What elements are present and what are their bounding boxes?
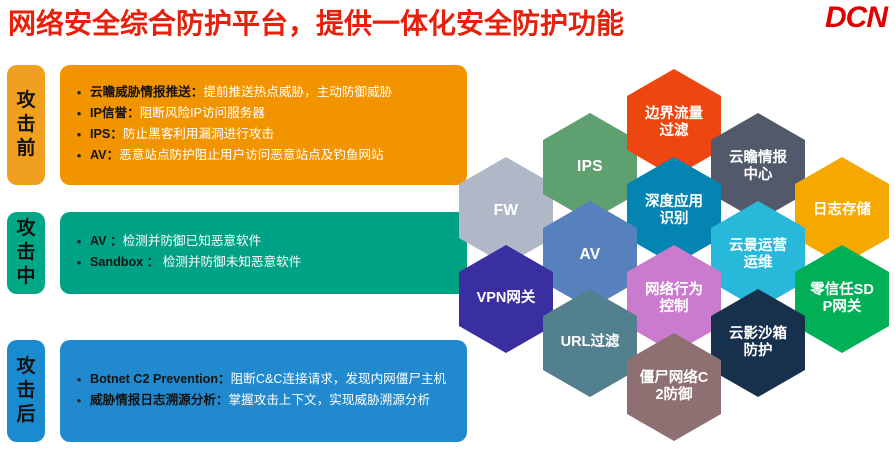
hexagon-label: FW	[482, 202, 531, 220]
list-item: • AV ：检测并防御已知恶意软件	[68, 232, 457, 252]
hexagon-label: 僵尸网络C2防御	[627, 370, 721, 404]
hexagon-label: 边界流量过滤	[627, 106, 721, 140]
bullet-text: Botnet C2 Prevention：阻断C&C连接请求，发现内网僵尸主机	[90, 370, 457, 390]
list-item: • AV：恶意站点防护阻止用户访问恶意站点及钓鱼网站	[68, 146, 457, 166]
list-item: • 威胁情报日志溯源分析：掌握攻击上下文，实现威胁溯源分析	[68, 391, 457, 411]
list-item: • Sandbox ： 检测并防御未知恶意软件	[68, 253, 457, 273]
hexagon-label: 云瞻情报中心	[711, 150, 805, 184]
phase-label-char: 击	[16, 241, 35, 265]
bullet-key: Botnet C2 Prevention：	[90, 372, 231, 386]
phase-label-before-attack: 攻 击 前	[7, 65, 45, 185]
bullet-text: AV：恶意站点防护阻止用户访问恶意站点及钓鱼网站	[90, 146, 457, 166]
list-item: • 云瞻威胁情报推送：提前推送热点威胁，主动防御威胁	[68, 83, 457, 103]
bullet-value: 恶意站点防护阻止用户访问恶意站点及钓鱼网站	[119, 148, 383, 162]
hexagon-label: VPN网关	[465, 290, 548, 307]
bullet-key: AV ：	[90, 234, 123, 248]
page-header: 网络安全综合防护平台，提供一体化安全防护功能 DCN	[0, 0, 895, 48]
bullet-value: 阻断风险IP访问服务器	[140, 106, 265, 120]
phase-label-char: 攻	[16, 355, 35, 379]
phase-label-char: 攻	[16, 89, 35, 113]
bullet-text: IP信誉：阻断风险IP访问服务器	[90, 104, 457, 124]
hexagon-label: URL过滤	[549, 334, 632, 351]
capability-hexagon-cluster: FWIPS边界流量过滤云瞻情报中心日志存储深度应用识别AVVPN网关云景运营运维…	[455, 60, 895, 452]
hexagon-label: IPS	[565, 158, 615, 176]
bullet-key: IPS：	[90, 127, 123, 141]
phase-label-char: 攻	[16, 217, 35, 241]
bullet-value: 检测并防御已知恶意软件	[123, 234, 262, 248]
hexagon-label: 日志存储	[801, 202, 883, 219]
hexagon-label: 零信任SDP网关	[795, 282, 889, 316]
hexagon-label: 云景运营运维	[711, 238, 805, 272]
bullet-icon: •	[68, 125, 90, 145]
bullet-icon: •	[68, 253, 90, 273]
list-item: • IP信誉：阻断风险IP访问服务器	[68, 104, 457, 124]
hexagon-label: 云影沙箱防护	[711, 326, 805, 360]
phase-label-during-attack: 攻 击 中	[7, 212, 45, 294]
bullet-key: IP信誉：	[90, 106, 140, 120]
hexagon-label: 网络行为控制	[627, 282, 721, 316]
hexagon-tile[interactable]: 云影沙箱防护	[711, 289, 805, 397]
list-item: • Botnet C2 Prevention：阻断C&C连接请求，发现内网僵尸主…	[68, 370, 457, 390]
hexagon-tile[interactable]: 零信任SDP网关	[795, 245, 889, 353]
bullet-key: Sandbox ：	[90, 255, 159, 269]
phase-label-char: 中	[16, 265, 35, 289]
phase-label-char: 击	[16, 379, 35, 403]
phase-body-during-attack: • AV ：检测并防御已知恶意软件 • Sandbox ： 检测并防御未知恶意软…	[60, 212, 467, 294]
phase-body-before-attack: • 云瞻威胁情报推送：提前推送热点威胁，主动防御威胁 • IP信誉：阻断风险IP…	[60, 65, 467, 185]
bullet-text: IPS：防止黑客利用漏洞进行攻击	[90, 125, 457, 145]
bullet-value: 防止黑客利用漏洞进行攻击	[123, 127, 274, 141]
bullet-text: 云瞻威胁情报推送：提前推送热点威胁，主动防御威胁	[90, 83, 457, 103]
bullet-value: 提前推送热点威胁，主动防御威胁	[203, 85, 392, 99]
hexagon-tile[interactable]: 僵尸网络C2防御	[627, 333, 721, 441]
page-title: 网络安全综合防护平台，提供一体化安全防护功能	[8, 2, 624, 42]
hexagon-label: 深度应用识别	[627, 194, 721, 228]
phase-label-char: 击	[16, 113, 35, 137]
dcn-logo: DCN	[825, 3, 887, 33]
list-item: • IPS：防止黑客利用漏洞进行攻击	[68, 125, 457, 145]
bullet-text: 威胁情报日志溯源分析：掌握攻击上下文，实现威胁溯源分析	[90, 391, 457, 411]
hexagon-tile[interactable]: URL过滤	[543, 289, 637, 397]
bullet-key: 云瞻威胁情报推送：	[90, 85, 203, 99]
bullet-key: 威胁情报日志溯源分析：	[90, 393, 229, 407]
phase-label-after-attack: 攻 击 后	[7, 340, 45, 442]
bullet-icon: •	[68, 391, 90, 411]
phase-body-after-attack: • Botnet C2 Prevention：阻断C&C连接请求，发现内网僵尸主…	[60, 340, 467, 442]
hexagon-tile[interactable]: VPN网关	[459, 245, 553, 353]
bullet-icon: •	[68, 232, 90, 252]
bullet-key: AV：	[90, 148, 119, 162]
bullet-text: Sandbox ： 检测并防御未知恶意软件	[90, 253, 457, 273]
bullet-value: 检测并防御未知恶意软件	[159, 255, 301, 269]
phase-label-char: 前	[16, 137, 35, 161]
bullet-icon: •	[68, 104, 90, 124]
bullet-icon: •	[68, 146, 90, 166]
phase-label-char: 后	[16, 403, 35, 427]
hexagon-label: AV	[568, 246, 613, 264]
bullet-icon: •	[68, 83, 90, 103]
bullet-text: AV ：检测并防御已知恶意软件	[90, 232, 457, 252]
bullet-value: 阻断C&C连接请求，发现内网僵尸主机	[231, 372, 447, 386]
bullet-icon: •	[68, 370, 90, 390]
bullet-value: 掌握攻击上下文，实现威胁溯源分析	[229, 393, 431, 407]
